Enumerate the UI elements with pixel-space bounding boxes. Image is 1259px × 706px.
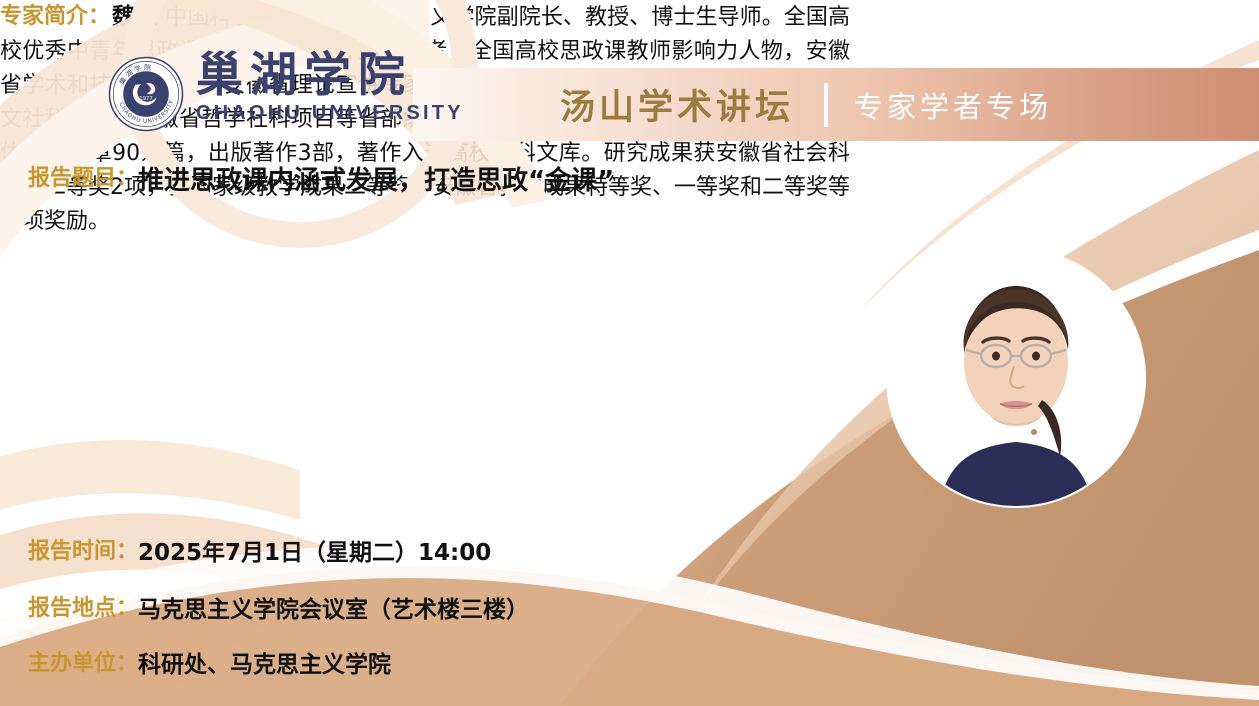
banner: 汤山学术讲坛 专家学者专场 bbox=[413, 68, 1259, 141]
svg-text:1977: 1977 bbox=[139, 96, 153, 102]
host-row: 主办单位： 科研处、马克思主义学院 bbox=[28, 645, 391, 679]
university-logo: 1977 巢 湖 学 院 CHAOHU UNIVERSITY 巢湖学院 CHAO… bbox=[108, 52, 464, 132]
lecture-poster: 汤山学术讲坛 专家学者专场 1977 巢 湖 学 院 CHAOHU UNIVER… bbox=[0, 0, 1259, 706]
place-label: 报告地点： bbox=[28, 590, 138, 622]
speaker-portrait-photo bbox=[888, 250, 1144, 506]
topic-value: 推进思政课内涵式发展，打造思政“金课” bbox=[138, 160, 614, 197]
host-label: 主办单位： bbox=[28, 645, 138, 677]
university-name-cn: 巢湖学院 bbox=[196, 52, 464, 100]
time-value: 2025年7月1日（星期二）14:00 bbox=[138, 533, 491, 567]
place-value: 马克思主义学院会议室（艺术楼三楼） bbox=[138, 590, 529, 624]
banner-subtitle: 专家学者专场 bbox=[854, 84, 1052, 126]
banner-divider bbox=[824, 83, 828, 127]
speaker-portrait bbox=[888, 250, 1144, 506]
topic-row: 报告题目： 推进思政课内涵式发展，打造思政“金课” bbox=[28, 160, 614, 197]
university-name-en: CHAOHU UNIVERSITY bbox=[196, 102, 464, 125]
place-row: 报告地点： 马克思主义学院会议室（艺术楼三楼） bbox=[28, 590, 529, 624]
host-value: 科研处、马克思主义学院 bbox=[138, 645, 391, 679]
university-seal-icon: 1977 巢 湖 学 院 CHAOHU UNIVERSITY bbox=[108, 56, 184, 132]
topic-label: 报告题目： bbox=[28, 160, 138, 192]
banner-title: 汤山学术讲坛 bbox=[560, 79, 794, 130]
time-row: 报告时间： 2025年7月1日（星期二）14:00 bbox=[28, 533, 491, 567]
time-label: 报告时间： bbox=[28, 533, 138, 565]
